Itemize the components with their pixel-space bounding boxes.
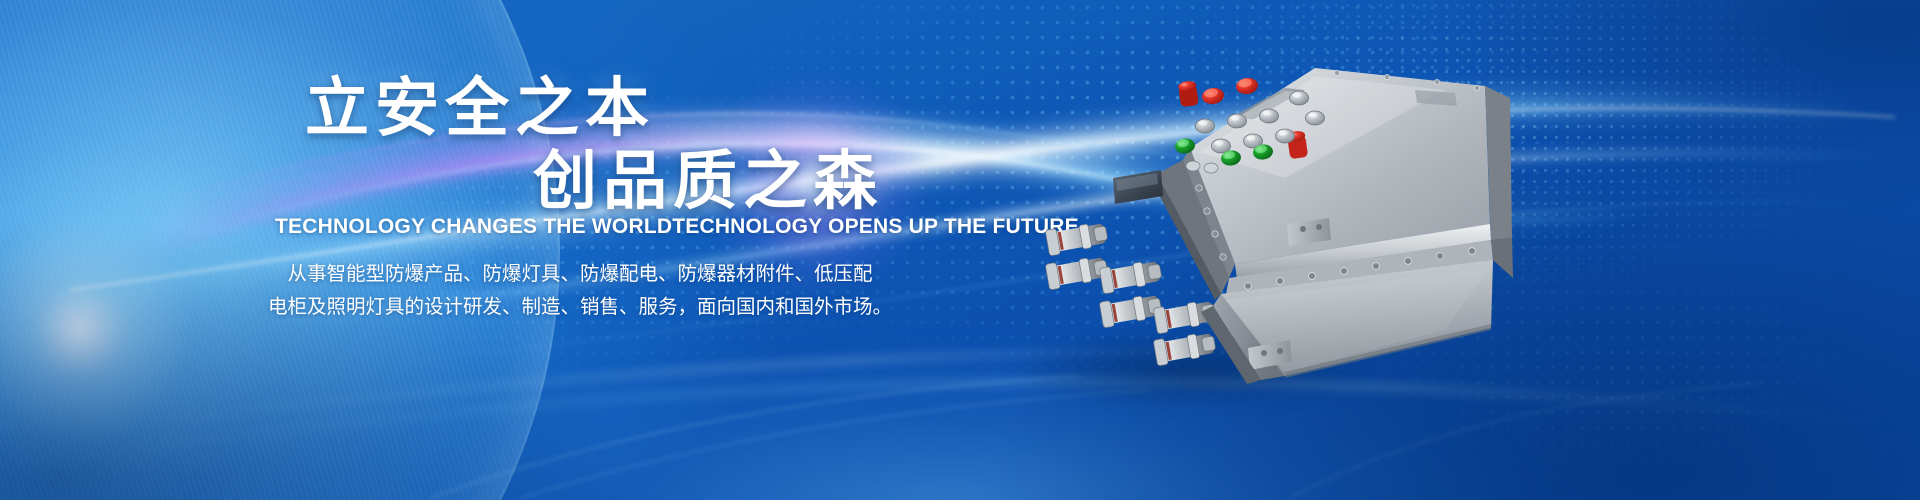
display-window: [1113, 170, 1163, 204]
headline-line-1: 立安全之本: [305, 76, 655, 140]
headline-line-2: 创品质之森: [533, 149, 883, 213]
explosion-proof-control-box-photo: [985, 28, 1515, 388]
hero-banner: 立安全之本 创品质之森 TECHNOLOGY CHANGES THE WORLD…: [0, 0, 1920, 500]
description-line-2: 电柜及照明灯具的设计研发、制造、销售、服务，面向国内和国外市场。: [255, 291, 905, 324]
banner-copy: 立安全之本 创品质之森 TECHNOLOGY CHANGES THE WORLD…: [0, 0, 980, 500]
english-tagline: TECHNOLOGY CHANGES THE WORLDTECHNOLOGY O…: [275, 215, 915, 239]
description-line-1: 从事智能型防爆产品、防爆灯具、防爆配电、防爆器材附件、低压配: [255, 258, 905, 291]
description-paragraph: 从事智能型防爆产品、防爆灯具、防爆配电、防爆器材附件、低压配 电柜及照明灯具的设…: [255, 258, 905, 324]
